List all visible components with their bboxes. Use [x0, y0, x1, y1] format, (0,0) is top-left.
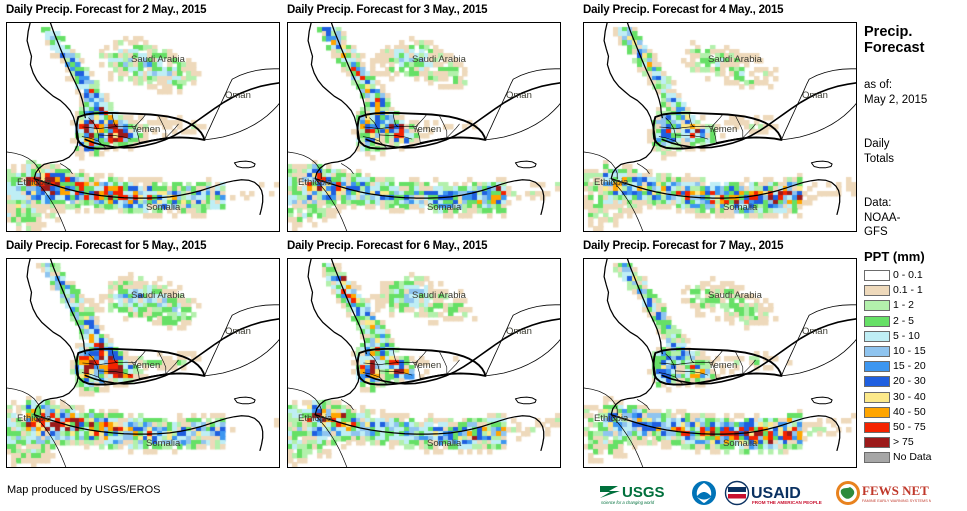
governorate-line	[689, 113, 694, 126]
saudi-oman-boundary	[205, 315, 233, 376]
legend-row: 2 - 5	[864, 314, 967, 329]
legend-swatch	[864, 437, 890, 448]
totals-line1: Daily	[864, 137, 964, 152]
legend-label: No Data	[893, 452, 932, 463]
governorate-line	[675, 371, 708, 375]
ethiopia-somalia-boundary	[315, 415, 347, 467]
saudi-interior-boundary	[782, 104, 857, 140]
legend-swatch	[864, 422, 890, 433]
totals-block: Daily Totals	[864, 137, 964, 166]
sidebar: Precip. Forecast as of: May 2, 2015 Dail…	[864, 0, 967, 511]
saudi-oman-boundary	[205, 79, 233, 140]
africa-coastline	[27, 23, 78, 179]
somalia-coastline	[315, 415, 544, 451]
legend-row: 1 - 2	[864, 298, 967, 313]
governorate-line	[689, 349, 694, 362]
legend-swatch	[864, 346, 890, 357]
saudi-interior-boundary	[486, 340, 561, 376]
panel-title: Daily Precip. Forecast for 5 May., 2015	[6, 240, 206, 252]
governorate-line	[379, 135, 412, 139]
ethiopia-somalia-boundary	[34, 179, 66, 231]
governorate-line	[135, 363, 139, 379]
governorate-line	[735, 115, 743, 137]
panel-title: Daily Precip. Forecast for 2 May., 2015	[6, 4, 206, 16]
djibouti-boundary	[60, 400, 72, 410]
governorate-line	[675, 135, 708, 139]
africa-coastline	[308, 259, 359, 415]
somalia-coastline	[34, 179, 263, 215]
saudi-interior-boundary	[205, 104, 280, 140]
djibouti-boundary	[341, 164, 353, 174]
usgs-logo: USGS science for a changing world	[598, 480, 684, 506]
legend-swatch	[864, 331, 890, 342]
panel-title: Daily Precip. Forecast for 4 May., 2015	[583, 4, 783, 16]
oman-north-boundary	[232, 69, 279, 79]
map-credit: Map produced by USGS/EROS	[7, 484, 160, 496]
governorate-line	[712, 351, 723, 363]
ethiopia-somalia-boundary	[34, 415, 66, 467]
panel-map-area: Saudi ArabiaOmanYemenEthiopiaSomalia	[287, 22, 561, 232]
legend-row: 0 - 0.1	[864, 268, 967, 283]
country-boundaries	[7, 259, 279, 467]
governorate-line	[135, 351, 146, 363]
arabia-west-coastline	[332, 23, 367, 118]
legend-label: 0 - 0.1	[893, 270, 923, 281]
asof-label: as of:	[864, 78, 964, 93]
socotra-island	[515, 161, 536, 168]
forecast-map-figure: Daily Precip. Forecast for 2 May., 2015S…	[0, 0, 967, 511]
arabia-west-coastline	[51, 23, 86, 118]
agency-logos: USGS science for a changing world USAID …	[598, 478, 931, 508]
panel-title: Daily Precip. Forecast for 7 May., 2015	[583, 240, 783, 252]
country-boundaries	[584, 23, 856, 231]
legend-label: 30 - 40	[893, 392, 926, 403]
socotra-island	[234, 397, 255, 404]
noaa-logo	[691, 480, 717, 506]
saudi-oman-boundary	[486, 315, 514, 376]
legend-label: 2 - 5	[893, 316, 914, 327]
asof-date: May 2, 2015	[864, 93, 964, 108]
governorate-line	[416, 363, 420, 379]
arabia-west-coastline	[628, 23, 663, 118]
socotra-island	[234, 161, 255, 168]
oman-north-boundary	[809, 305, 856, 315]
legend-row: 15 - 20	[864, 359, 967, 374]
djibouti-boundary	[637, 400, 649, 410]
governorate-line	[98, 135, 131, 139]
legend-swatch	[864, 285, 890, 296]
arabia-west-coastline	[51, 259, 86, 354]
ethiopia-somalia-boundary	[611, 179, 643, 231]
somalia-coastline	[611, 415, 840, 451]
governorate-line	[712, 127, 716, 143]
svg-text:FEWS NET: FEWS NET	[862, 483, 929, 498]
fewsnet-logo: FEWS NET FAMINE EARLY WARNING SYSTEMS NE…	[835, 480, 931, 506]
panel-map-area: Saudi ArabiaOmanYemenEthiopiaSomalia	[6, 22, 280, 232]
panel-title: Daily Precip. Forecast for 6 May., 2015	[287, 240, 487, 252]
governorate-line	[439, 115, 447, 137]
legend-label: 10 - 15	[893, 346, 926, 357]
legend-row: 5 - 10	[864, 329, 967, 344]
usaid-logo: USAID FROM THE AMERICAN PEOPLE	[724, 480, 828, 506]
legend-swatch	[864, 316, 890, 327]
legend-row: 50 - 75	[864, 420, 967, 435]
legend-label: 1 - 2	[893, 300, 914, 311]
legend-swatch	[864, 270, 890, 281]
data-source-line2: GFS	[864, 225, 964, 240]
sidebar-title-line2: Forecast	[864, 40, 964, 56]
socotra-island	[811, 161, 832, 168]
ethiopia-somalia-boundary	[315, 179, 347, 231]
legend-row: 20 - 30	[864, 374, 967, 389]
legend: PPT (mm) 0 - 0.10.1 - 11 - 22 - 55 - 101…	[864, 250, 967, 465]
governorate-line	[393, 349, 398, 362]
governorate-line	[379, 371, 412, 375]
country-boundaries	[584, 259, 856, 467]
socotra-island	[515, 397, 536, 404]
panel-map-area: Saudi ArabiaOmanYemenEthiopiaSomalia	[583, 22, 857, 232]
djibouti-boundary	[60, 164, 72, 174]
saudi-interior-boundary	[205, 340, 280, 376]
panel-map-area: Saudi ArabiaOmanYemenEthiopiaSomalia	[6, 258, 280, 468]
svg-text:FAMINE EARLY WARNING SYSTEMS N: FAMINE EARLY WARNING SYSTEMS NETWORK	[862, 499, 931, 503]
saudi-interior-boundary	[486, 104, 561, 140]
governorate-line	[82, 373, 98, 378]
saudi-oman-boundary	[782, 315, 810, 376]
legend-swatch	[864, 361, 890, 372]
legend-label: 0.1 - 1	[893, 285, 923, 296]
legend-row: 30 - 40	[864, 390, 967, 405]
governorate-line	[416, 115, 427, 127]
governorate-line	[393, 113, 398, 126]
governorate-line	[158, 351, 166, 373]
governorate-line	[363, 373, 379, 378]
governorate-line	[158, 115, 166, 137]
djibouti-boundary	[637, 164, 649, 174]
country-boundaries	[288, 23, 560, 231]
legend-swatch	[864, 392, 890, 403]
legend-label: 50 - 75	[893, 422, 926, 433]
panel-title: Daily Precip. Forecast for 3 May., 2015	[287, 4, 487, 16]
legend-label: 5 - 10	[893, 331, 920, 342]
governorate-line	[82, 137, 98, 142]
arabia-west-coastline	[332, 259, 367, 354]
oman-north-boundary	[513, 305, 560, 315]
governorate-line	[659, 373, 675, 378]
legend-label: 40 - 50	[893, 407, 926, 418]
legend-swatch	[864, 407, 890, 418]
governorate-line	[416, 351, 427, 363]
somalia-coastline	[611, 179, 840, 215]
governorate-line	[135, 115, 146, 127]
governorate-line	[659, 137, 675, 142]
legend-row: 0.1 - 1	[864, 283, 967, 298]
africa-coastline	[308, 23, 359, 179]
africa-coastline	[27, 259, 78, 415]
data-source-label: Data:	[864, 196, 964, 211]
governorate-line	[370, 118, 380, 141]
panel-map-area: Saudi ArabiaOmanYemenEthiopiaSomalia	[287, 258, 561, 468]
data-source-block: Data: NOAA- GFS	[864, 196, 964, 240]
africa-coastline	[604, 23, 655, 179]
legend-title: PPT (mm)	[864, 250, 967, 264]
legend-swatch	[864, 300, 890, 311]
legend-label: 15 - 20	[893, 361, 926, 372]
governorate-line	[666, 118, 676, 141]
totals-line2: Totals	[864, 152, 964, 167]
djibouti-boundary	[341, 400, 353, 410]
legend-entries: 0 - 0.10.1 - 11 - 22 - 55 - 1010 - 1515 …	[864, 268, 967, 465]
sidebar-title: Precip. Forecast	[864, 24, 964, 56]
governorate-line	[439, 351, 447, 373]
svg-text:science for a changing world: science for a changing world	[601, 500, 655, 505]
saudi-interior-boundary	[782, 340, 857, 376]
governorate-line	[98, 371, 131, 375]
country-boundaries	[288, 259, 560, 467]
governorate-line	[735, 351, 743, 373]
governorate-line	[712, 363, 716, 379]
svg-text:USGS: USGS	[622, 484, 665, 501]
governorate-line	[112, 349, 117, 362]
governorate-line	[416, 127, 420, 143]
somalia-coastline	[34, 415, 263, 451]
asof-block: as of: May 2, 2015	[864, 78, 964, 107]
data-source-line1: NOAA-	[864, 211, 964, 226]
governorate-line	[712, 115, 723, 127]
oman-north-boundary	[232, 305, 279, 315]
legend-swatch	[864, 452, 890, 463]
somalia-coastline	[315, 179, 544, 215]
country-boundaries	[7, 23, 279, 231]
governorate-line	[89, 354, 99, 377]
saudi-oman-boundary	[486, 79, 514, 140]
oman-north-boundary	[809, 69, 856, 79]
sidebar-title-line1: Precip.	[864, 24, 964, 40]
saudi-oman-boundary	[782, 79, 810, 140]
oman-north-boundary	[513, 69, 560, 79]
governorate-line	[363, 137, 379, 142]
legend-row: No Data	[864, 450, 967, 465]
panel-map-area: Saudi ArabiaOmanYemenEthiopiaSomalia	[583, 258, 857, 468]
legend-label: 20 - 30	[893, 376, 926, 387]
legend-row: 10 - 15	[864, 344, 967, 359]
svg-text:FROM THE AMERICAN PEOPLE: FROM THE AMERICAN PEOPLE	[752, 500, 822, 505]
governorate-line	[112, 113, 117, 126]
socotra-island	[811, 397, 832, 404]
governorate-line	[666, 354, 676, 377]
legend-label: > 75	[893, 437, 914, 448]
governorate-line	[370, 354, 380, 377]
legend-swatch	[864, 376, 890, 387]
ethiopia-somalia-boundary	[611, 415, 643, 467]
governorate-line	[135, 127, 139, 143]
legend-row: 40 - 50	[864, 405, 967, 420]
africa-coastline	[604, 259, 655, 415]
governorate-line	[89, 118, 99, 141]
arabia-west-coastline	[628, 259, 663, 354]
legend-row: > 75	[864, 435, 967, 450]
